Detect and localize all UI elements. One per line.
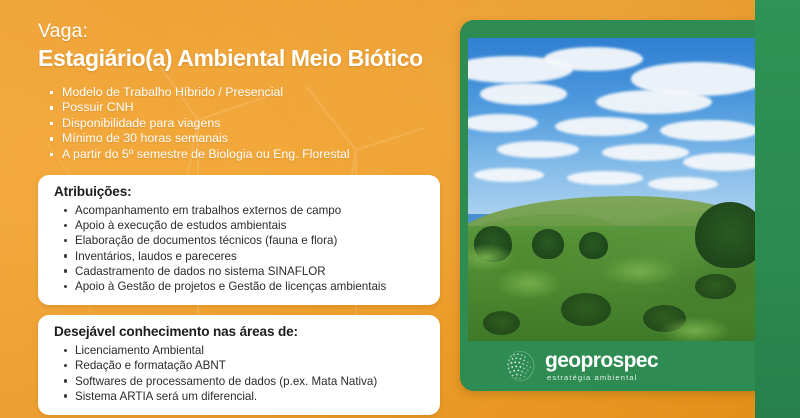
cloud-shape	[596, 90, 712, 114]
shrub-shape	[483, 311, 521, 335]
desirable-skills-card: Desejável conhecimento nas áreas de: Lic…	[38, 315, 440, 415]
attributions-list: Acompanhamento em trabalhos externos de …	[54, 203, 424, 294]
logo-wordmark: geoprospec estratégia ambiental	[545, 350, 658, 382]
cloud-shape	[468, 114, 538, 132]
grass-tuft	[497, 268, 561, 298]
list-item: Cadastramento de dados no sistema SINAFL…	[64, 264, 424, 279]
attributions-card: Atribuições: Acompanhamento em trabalhos…	[38, 175, 440, 305]
list-item: Elaboração de documentos técnicos (fauna…	[64, 233, 424, 248]
list-item: Mínimo de 30 horas semanais	[50, 131, 460, 146]
cloud-shape	[480, 83, 567, 104]
shrub-shape	[561, 293, 610, 326]
cloud-shape	[660, 120, 759, 141]
cloud-shape	[567, 171, 643, 185]
cloud-shape	[497, 141, 578, 158]
list-item: Modelo de Trabalho Híbrido / Presencial	[50, 85, 460, 100]
shrub-shape	[695, 274, 736, 298]
list-item: Sistema ARTIA será um diferencial.	[64, 389, 424, 404]
grass-tuft	[660, 317, 730, 341]
source-credit-sidebar: divulgado em: agrobase.com.br/estagios	[755, 0, 800, 418]
list-item: Apoio à Gestão de projetos e Gestão de l…	[64, 279, 424, 294]
tree-shape	[695, 202, 759, 269]
requirements-list: Modelo de Trabalho Híbrido / Presencial …	[38, 85, 460, 162]
grass-tuft	[602, 256, 678, 286]
content-column: Vaga: Estagiário(a) Ambiental Meio Bióti…	[0, 0, 460, 418]
list-item: A partir do 5º semestre de Biologia ou E…	[50, 147, 460, 162]
list-item: Licenciamento Ambiental	[64, 343, 424, 358]
cloud-shape	[544, 47, 643, 71]
logo-tagline: estratégia ambiental	[545, 374, 658, 382]
list-item: Possuir CNH	[50, 100, 460, 115]
list-item: Apoio à execução de estudos ambientais	[64, 218, 424, 233]
list-item: Redação e formatação ABNT	[64, 358, 424, 373]
desirable-skills-title: Desejável conhecimento nas áreas de:	[54, 324, 424, 339]
list-item: Acompanhamento em trabalhos externos de …	[64, 203, 424, 218]
landscape-photo	[468, 38, 759, 341]
logo-bar: geoprospec estratégia ambiental	[460, 341, 767, 391]
logo-name: geoprospec	[545, 350, 658, 371]
attributions-title: Atribuições:	[54, 184, 424, 199]
page-title: Estagiário(a) Ambiental Meio Biótico	[38, 45, 460, 72]
list-item: Softwares de processamento de dados (p.e…	[64, 374, 424, 389]
list-item: Inventários, laudos e pareceres	[64, 249, 424, 264]
cloud-shape	[474, 168, 544, 182]
cloud-shape	[648, 177, 718, 191]
tree-shape	[532, 229, 564, 259]
photo-card: geoprospec estratégia ambiental	[460, 20, 767, 391]
desirable-skills-list: Licenciamento Ambiental Redação e format…	[54, 343, 424, 404]
tree-shape	[579, 232, 608, 259]
list-item: Disponibilidade para viagens	[50, 116, 460, 131]
geoprospec-globe-icon	[502, 349, 536, 383]
job-posting-poster: Vaga: Estagiário(a) Ambiental Meio Bióti…	[0, 0, 800, 418]
cloud-shape	[602, 144, 689, 161]
kicker-label: Vaga:	[38, 20, 460, 43]
